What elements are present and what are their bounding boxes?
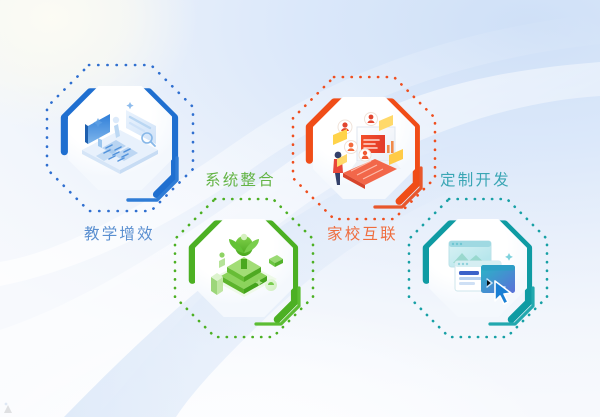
browser-windows-cursor-icon xyxy=(429,219,527,317)
card-teaching xyxy=(68,86,172,190)
classroom-isometric-icon xyxy=(68,86,172,190)
card-system xyxy=(195,219,293,317)
node-custom[interactable] xyxy=(406,196,550,340)
card-family xyxy=(313,97,415,199)
label-custom: 定制开发 xyxy=(440,168,511,190)
label-system: 系统整合 xyxy=(205,168,276,190)
label-teaching: 教学增效 xyxy=(84,222,155,244)
online-communication-isometric-icon xyxy=(313,97,415,199)
node-teaching[interactable] xyxy=(44,62,196,214)
label-family: 家校互联 xyxy=(327,222,398,244)
growth-tree-isometric-icon xyxy=(195,219,293,317)
card-custom xyxy=(429,219,527,317)
watermark xyxy=(2,401,28,415)
infographic-canvas: 教学增效 xyxy=(0,0,600,417)
node-system[interactable] xyxy=(172,196,316,340)
